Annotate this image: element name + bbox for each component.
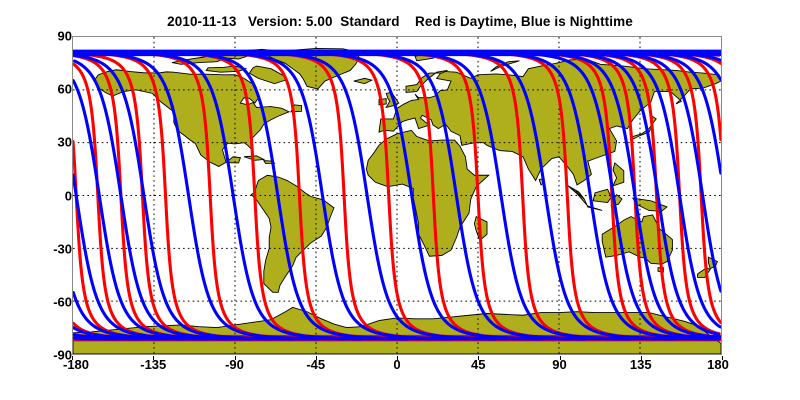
x-tick-mark [478, 356, 479, 360]
x-tick-mark [397, 356, 398, 360]
x-tick-mark [153, 356, 154, 360]
map-plot-area [72, 36, 722, 355]
y-tick-label: 90 [12, 29, 72, 44]
y-tick-label: 60 [12, 82, 72, 97]
map-canvas [73, 37, 721, 354]
y-tick-label: -60 [12, 294, 72, 309]
x-tick-mark [722, 356, 723, 360]
x-tick-label: -180 [36, 357, 116, 372]
ground-track-figure: 2010-11-13 Version: 5.00 Standard Red is… [0, 0, 800, 400]
y-tick-label: -30 [12, 241, 72, 256]
figure-title: 2010-11-13 Version: 5.00 Standard Red is… [0, 14, 800, 29]
y-tick-label: 0 [12, 188, 72, 203]
x-tick-label: 180 [678, 357, 758, 372]
x-tick-mark [641, 356, 642, 360]
y-tick-label: 30 [12, 135, 72, 150]
x-tick-mark [235, 356, 236, 360]
x-tick-mark [72, 356, 73, 360]
x-tick-mark [560, 356, 561, 360]
x-tick-mark [316, 356, 317, 360]
